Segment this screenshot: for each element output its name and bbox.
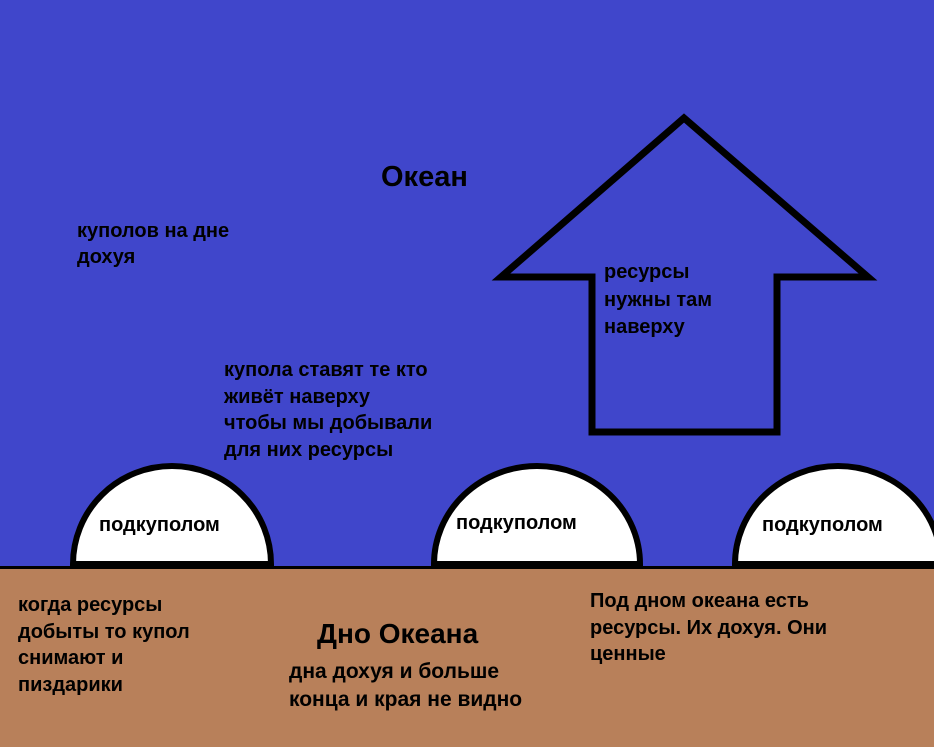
note-resources-under-seabed: Под дном океана есть ресурсы. Их дохуя. … bbox=[590, 588, 827, 668]
seabed-subtitle: дна дохуя и больше конца и края не видно bbox=[289, 658, 522, 715]
dome-label-3: подкуполом bbox=[762, 514, 883, 537]
ocean-title: Океан bbox=[381, 163, 468, 192]
dome-label-2: подкуполом bbox=[456, 512, 577, 535]
note-who-builds-domes: купола ставят те кто живёт наверху чтобы… bbox=[224, 357, 432, 463]
dome-label-1: подкуполом bbox=[99, 514, 220, 537]
note-arrow-resources-needed-above: ресурсы нужны там наверху bbox=[604, 259, 712, 342]
note-dome-removed: когда ресурсы добыты то купол снимают и … bbox=[18, 592, 190, 698]
diagram-canvas: Океан куполов на дне дохуя купола ставят… bbox=[0, 0, 934, 747]
seabed-title: Дно Океана bbox=[317, 620, 478, 648]
note-domes-count: куполов на дне дохуя bbox=[77, 218, 229, 270]
